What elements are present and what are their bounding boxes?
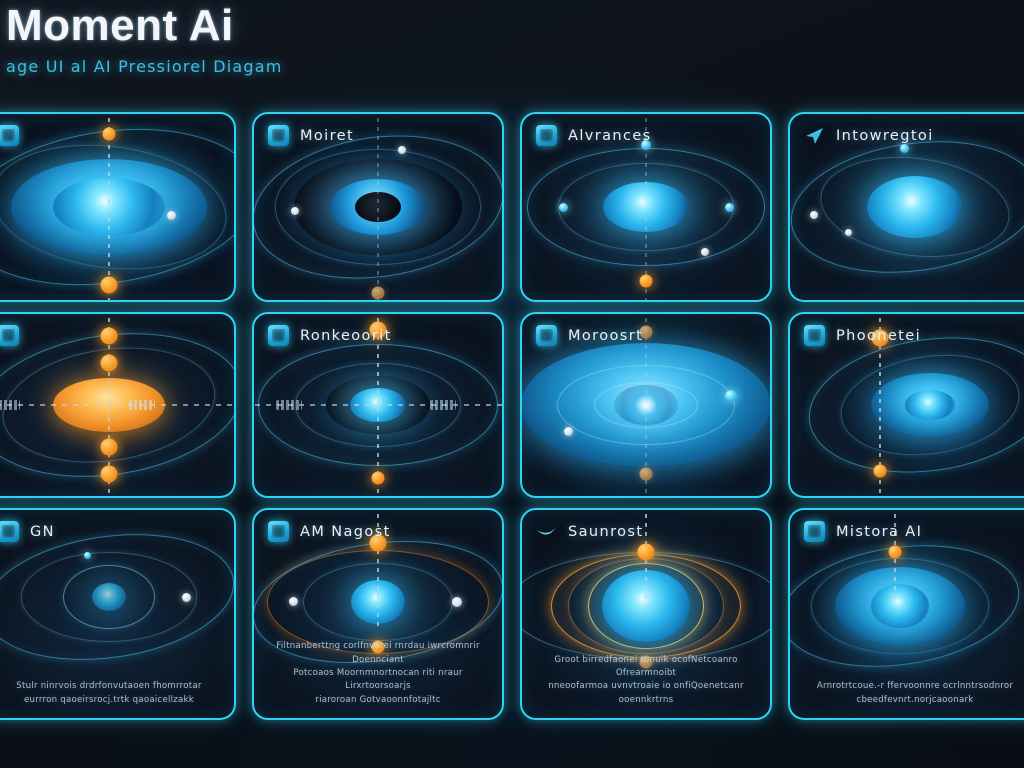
dashboard-icon (804, 521, 825, 542)
connector-bead-bottom (640, 468, 653, 481)
page-subtitle: age UI al AI Pressiorel Diagam (6, 57, 1024, 76)
flag-chart-icon (804, 325, 825, 346)
card-header: Phoonetei (804, 325, 921, 346)
connector-bead-top-1 (101, 327, 118, 344)
card-amber-hub[interactable] (0, 312, 236, 498)
card-title: GN (30, 524, 55, 540)
layers-icon (268, 325, 289, 346)
readout-chip-left (276, 400, 302, 410)
readout-chip-right (129, 400, 155, 410)
connector-bead-top (103, 128, 116, 141)
card-title: AM Nagost (300, 524, 391, 540)
page-header: Moment Ai age UI al AI Pressiorel Diagam (0, 4, 1024, 104)
window-icon (536, 325, 557, 346)
card-header: Moroosrt (536, 325, 643, 346)
connector-bead-bottom-1 (101, 438, 118, 455)
wave-note-icon (536, 125, 557, 146)
connector-bead-bottom (101, 277, 118, 294)
card-title: Mistora AI (836, 524, 922, 540)
card-alvrances[interactable]: Alvrances (520, 112, 772, 302)
card-caption: Groot birredfaonei tonuik ocofNetcoanro … (532, 654, 760, 707)
card-title: Ronkeoorit (300, 328, 392, 344)
card-header: Ronkeoorit (268, 325, 392, 346)
connector-bead-top (638, 543, 655, 560)
card-header: GN (0, 521, 55, 542)
card-header: Intowregtoi (804, 125, 934, 146)
card-title: Moiret (300, 128, 354, 144)
connector-bead-bottom (372, 286, 385, 299)
satellite-node-left (810, 211, 818, 219)
connector-bead-bottom-2 (101, 466, 118, 483)
core-glow (867, 176, 963, 238)
orbital-visual (0, 114, 234, 300)
card-header (0, 125, 30, 146)
connector-spine (377, 112, 379, 302)
diagram-card-grid: Moiret Alvrances (0, 112, 1024, 724)
satellite-node (167, 211, 176, 220)
core-glow (905, 390, 955, 420)
card-ronkeoorit[interactable]: Ronkeoorit (252, 312, 504, 498)
card-caption: Filtnanberttng corlfnvarei rnrdau iwrcro… (264, 640, 492, 707)
card-caption: Arnrotrtcoue.-r ffervoonnre ocrlnntrsodn… (800, 680, 1024, 707)
amber-disc-icon (0, 325, 19, 346)
card-header: Alvrances (536, 125, 652, 146)
card-title: Alvrances (568, 128, 652, 144)
satellite-node-top (84, 552, 91, 559)
readout-chip-left (0, 400, 20, 410)
connector-bead-bottom (640, 275, 653, 288)
card-am-nagost[interactable]: AM Nagost Filtnanberttng corlfnvarei rnr… (252, 508, 504, 720)
card-header: Saunrost (536, 521, 643, 542)
orbital-core-icon (0, 125, 19, 146)
card-header: Mistora AI (804, 521, 922, 542)
card-header (0, 325, 30, 346)
connector-bead-top-2 (101, 355, 118, 372)
satellite-node-right (182, 593, 191, 602)
core-glow (871, 584, 929, 628)
card-moroosrt[interactable]: Moroosrt (520, 312, 772, 498)
card-caption: Stulr ninrvois drdrfonvutaoen fhomrrotar… (0, 680, 224, 707)
badge-icon (268, 521, 289, 542)
connector-bead-top (889, 545, 902, 558)
page-title: Moment Ai (6, 4, 1024, 48)
satellite-node-left (564, 427, 573, 436)
radar-icon (0, 521, 19, 542)
connector-bead-bottom (874, 464, 887, 477)
card-title: Intowregtoi (836, 128, 934, 144)
connector-rail (0, 404, 236, 406)
swoosh-icon (536, 521, 557, 542)
card-title: Phoonetei (836, 328, 921, 344)
orbital-visual (0, 314, 234, 496)
core-glow (92, 583, 126, 611)
satellite-node (701, 248, 709, 256)
card-intowregtoi[interactable]: Intowregtoi (788, 112, 1024, 302)
card-title: Moroosrt (568, 328, 643, 344)
chart-bars-icon (268, 125, 289, 146)
satellite-node (398, 146, 406, 154)
card-phoonetei[interactable]: Phoonetei (788, 312, 1024, 498)
readout-chip-right (430, 400, 456, 410)
paper-plane-icon (804, 125, 825, 146)
card-header: AM Nagost (268, 521, 391, 542)
card-orbital-core[interactable] (0, 112, 236, 302)
card-gn[interactable]: GN Stulr ninrvois drdrfonvutaoen fhomrro… (0, 508, 236, 720)
card-header: Moiret (268, 125, 354, 146)
connector-bead-bottom (372, 471, 385, 484)
card-title: Saunrost (568, 524, 643, 540)
card-mistora-ai[interactable]: Mistora AI Arnrotrtcoue.-r ffervoonnre o… (788, 508, 1024, 720)
card-moiret[interactable]: Moiret (252, 112, 504, 302)
card-saunrost[interactable]: Saunrost Groot birredfaonei tonuik ocofN… (520, 508, 772, 720)
